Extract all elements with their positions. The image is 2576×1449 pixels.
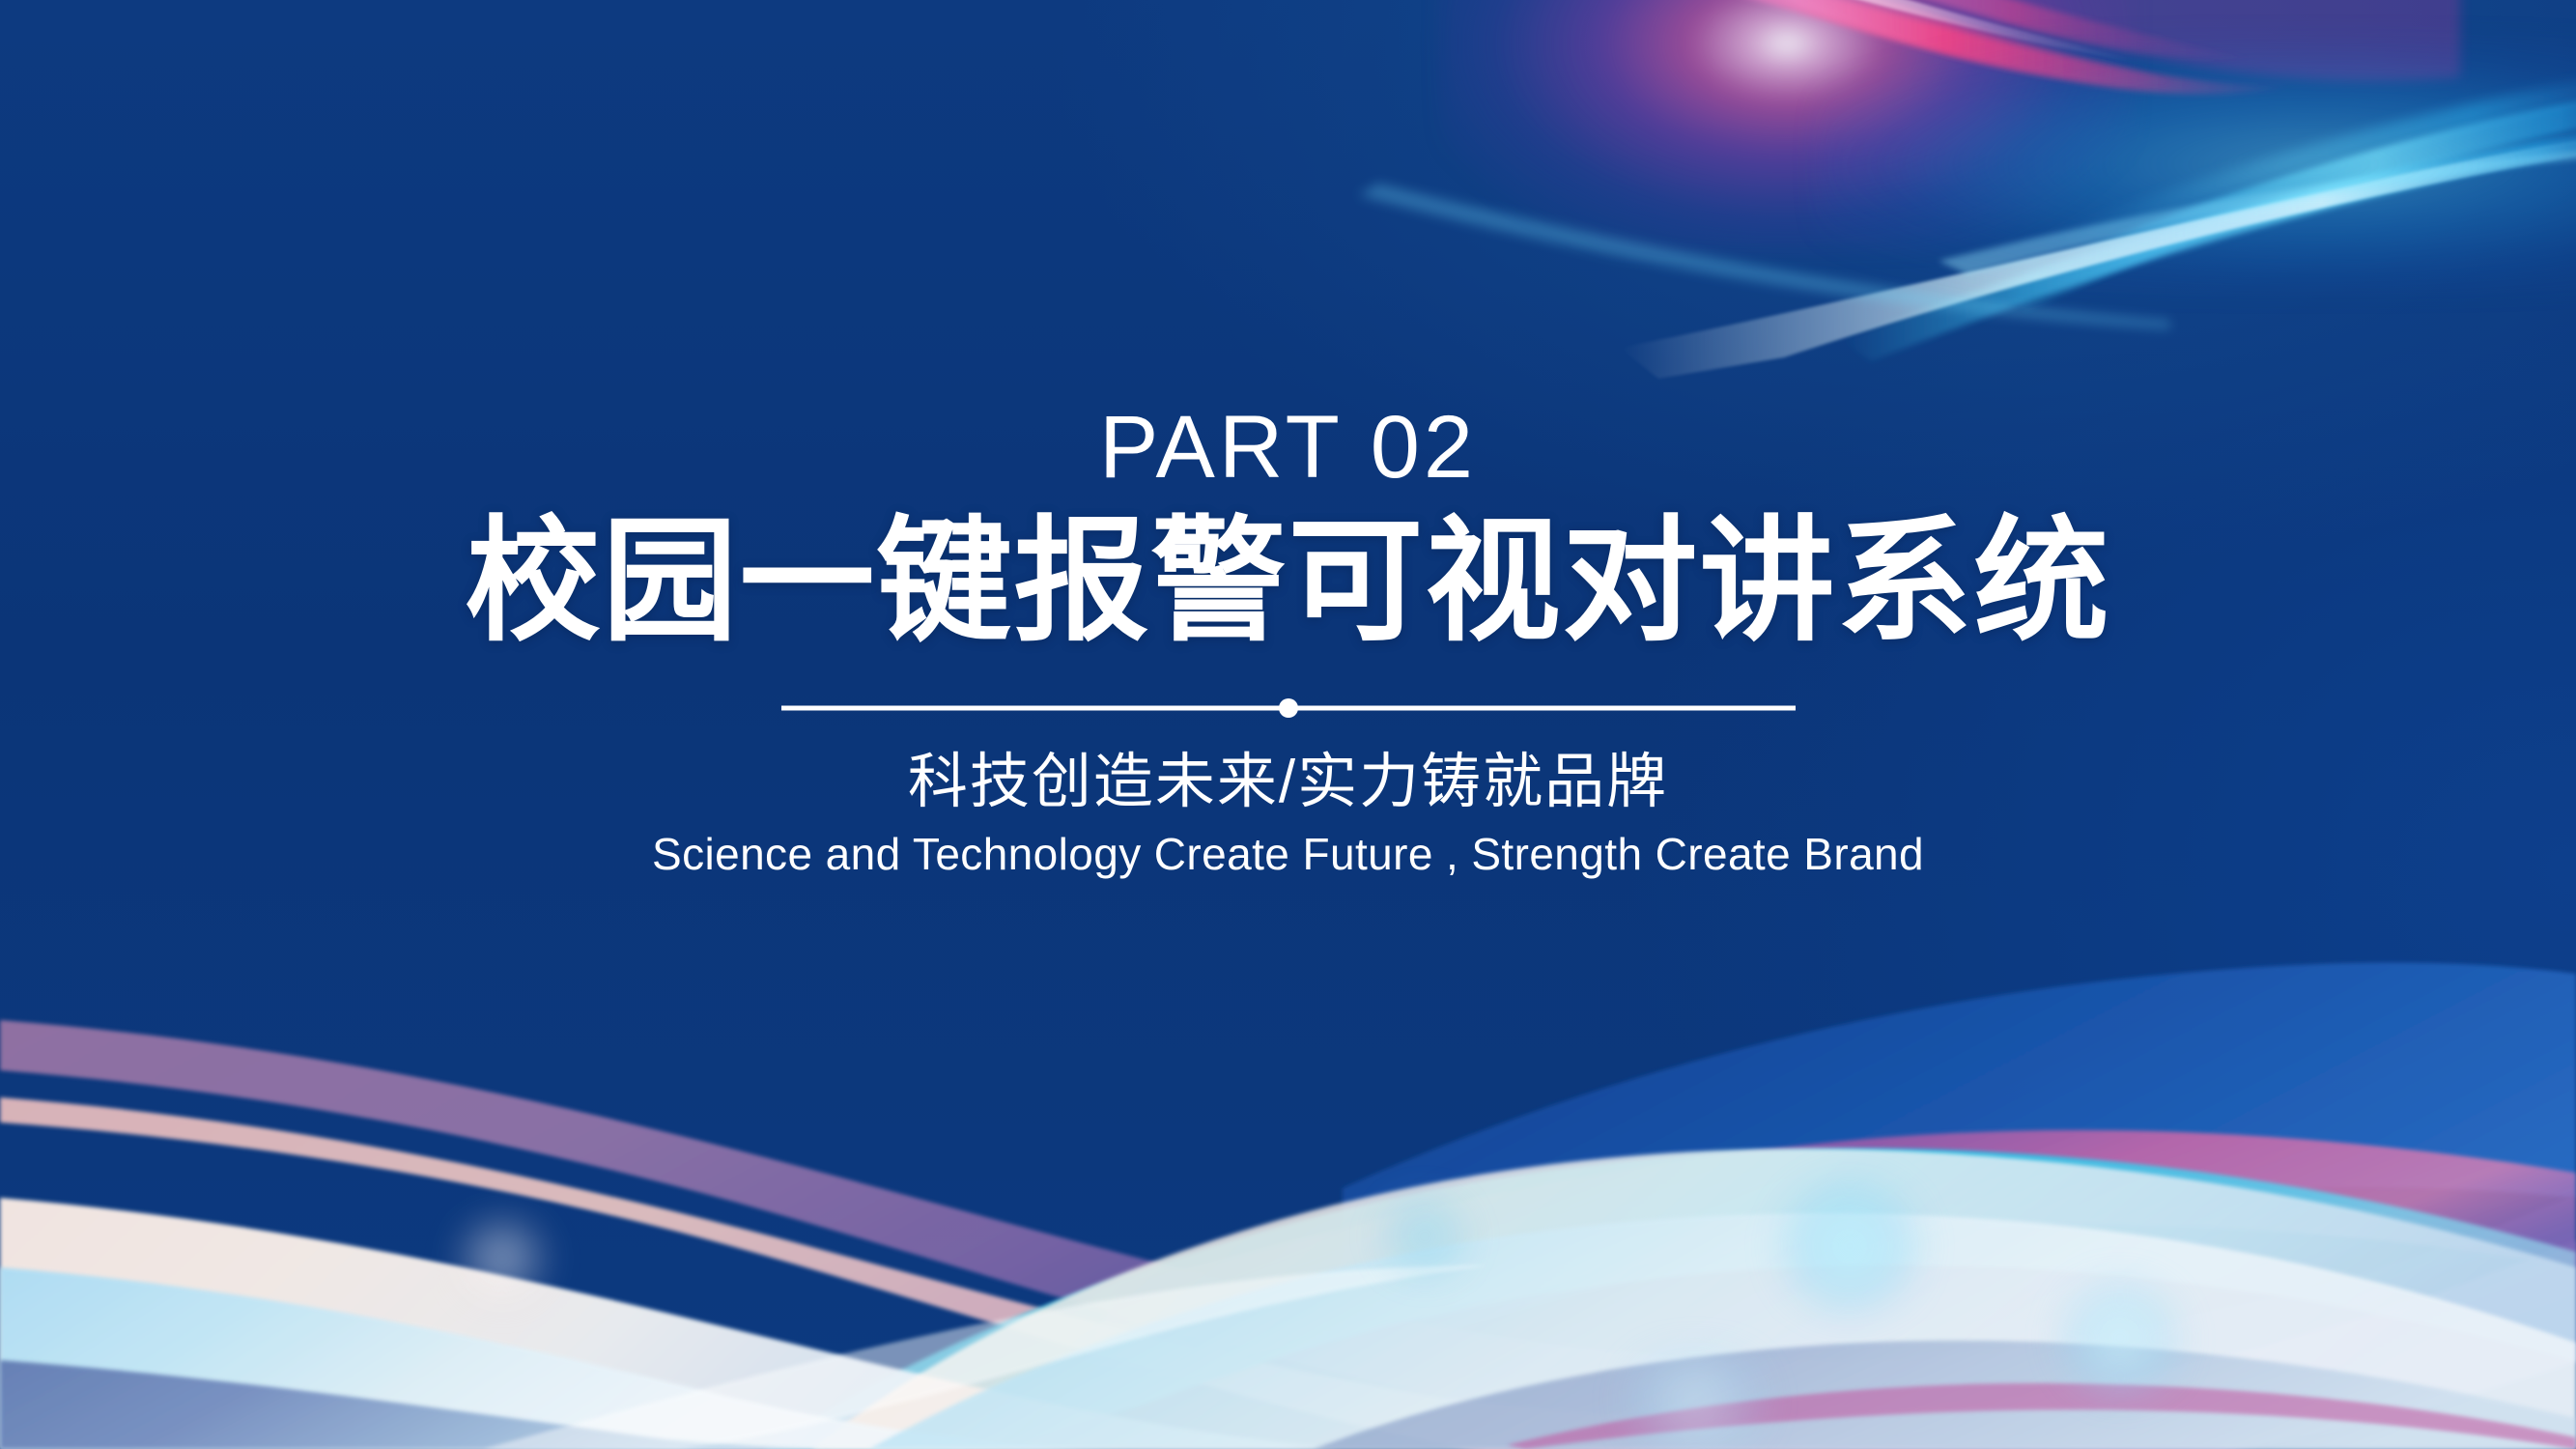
subtitle-english: Science and Technology Create Future , S… <box>652 828 1924 881</box>
presentation-slide: PART 02 校园一键报警可视对讲系统 科技创造未来/实力铸就品牌 Scien… <box>0 0 2576 1449</box>
page-title: 校园一键报警可视对讲系统 <box>465 510 2110 653</box>
divider-dot-icon <box>1279 698 1298 718</box>
part-number-label: PART 02 <box>1099 401 1477 495</box>
slide-content: PART 02 校园一键报警可视对讲系统 科技创造未来/实力铸就品牌 Scien… <box>0 0 2576 1449</box>
title-divider <box>781 697 1796 719</box>
subtitle-chinese: 科技创造未来/实力铸就品牌 <box>908 748 1668 816</box>
